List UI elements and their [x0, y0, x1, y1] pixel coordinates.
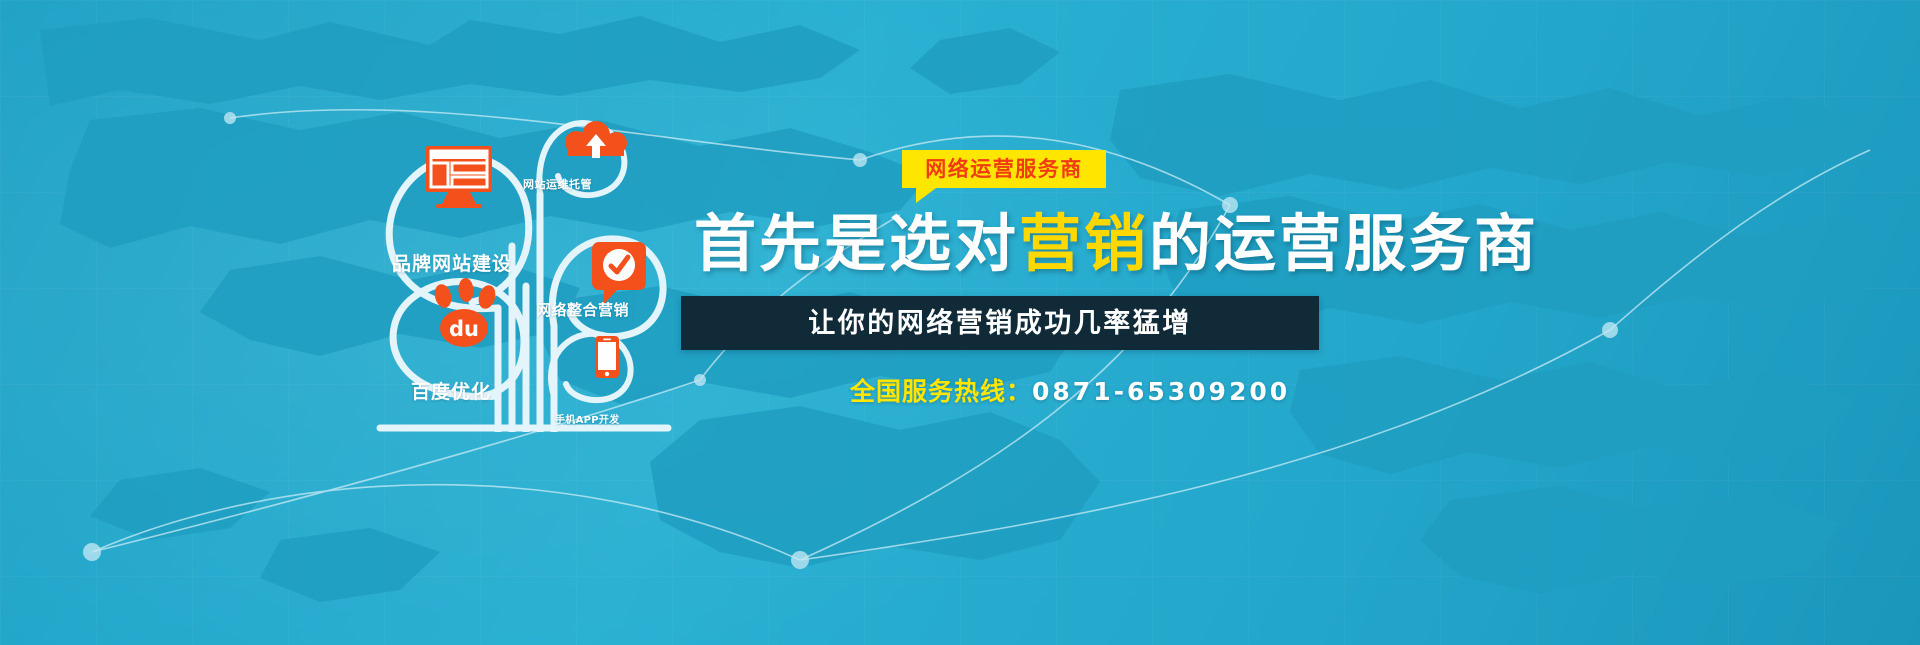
marketing-banner: du 品牌网站建设 百度优化 网站运维托管 网络整合营销 手机APP开发: [0, 0, 1920, 645]
baidu-paw-icon: du: [432, 278, 498, 347]
tree-label-app-dev: 手机APP开发: [555, 411, 620, 426]
hotline-label: 全国服务热线：: [850, 377, 1032, 406]
tree-label-brand-site: 品牌网站建设: [392, 249, 512, 276]
tree-label-site-ops: 网站运维托管: [523, 176, 592, 192]
service-badge-box: 网络运营服务商: [902, 150, 1106, 188]
subtitle-bar: 让你的网络营销成功几率猛增: [681, 296, 1319, 350]
svg-text:du: du: [449, 317, 479, 341]
hotline: 全国服务热线：0871-65309200: [850, 372, 1840, 408]
headline-highlight: 营销: [1019, 207, 1149, 280]
tree-label-baidu-seo: 百度优化: [411, 377, 491, 404]
headline-part-before: 首先是选对: [694, 207, 1019, 280]
subtitle-text: 让你的网络营销成功几率猛增: [808, 310, 1192, 337]
tree-label-net-marketing: 网络整合营销: [536, 299, 629, 320]
check-bubble-icon: [592, 242, 646, 304]
page-title: 首先是选对营销的运营服务商: [694, 210, 1840, 278]
banner-content: 网络运营服务商 首先是选对营销的运营服务商 让你的网络营销成功几率猛增 全国服务…: [680, 150, 1840, 470]
smartphone-icon: [595, 336, 619, 378]
headline-part-after: 的运营服务商: [1149, 207, 1539, 280]
service-badge: 网络运营服务商: [902, 150, 1106, 196]
service-badge-label: 网络运营服务商: [925, 159, 1083, 180]
service-badge-tail: [916, 188, 936, 203]
hotline-number[interactable]: 0871-65309200: [1032, 377, 1290, 406]
monitor-icon: [426, 146, 492, 208]
